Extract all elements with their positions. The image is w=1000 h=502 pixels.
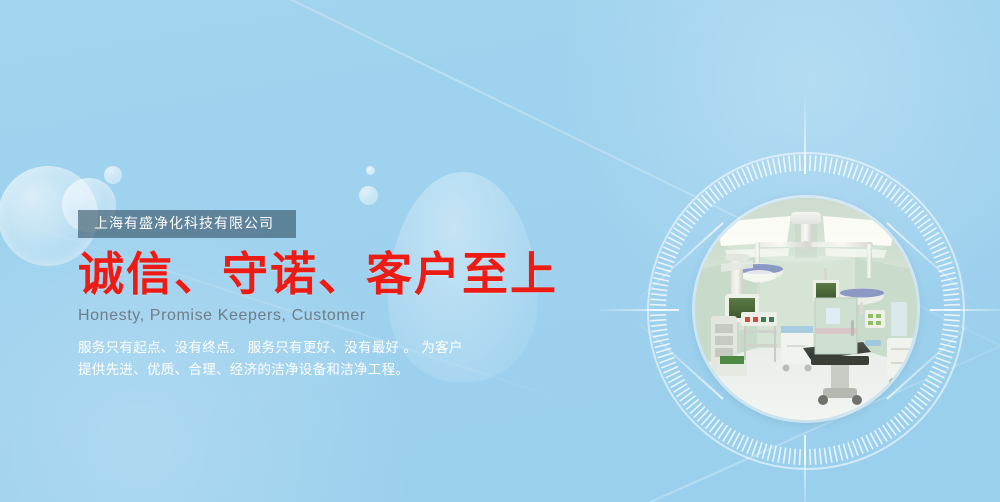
decorative-bubble-dot-1 <box>359 186 378 205</box>
banner-description-line-1: 服务只有起点、没有终点。 服务只有更好、没有最好 。 为客户 <box>78 337 598 359</box>
banner-copy-block: 上海有盛净化科技有限公司 诚信、守诺、客户至上 Honesty, Promise… <box>78 210 598 381</box>
banner-subtitle-english: Honesty, Promise Keepers, Customer <box>78 306 598 327</box>
decorative-bubble-small <box>104 166 122 184</box>
banner-description-line-2: 提供先进、优质、合理、经济的洁净设备和洁净工程。 <box>78 359 598 381</box>
banner-headline: 诚信、守诺、客户至上 <box>78 250 598 300</box>
banner-description: 服务只有起点、没有终点。 服务只有更好、没有最好 。 为客户 提供先进、优质、合… <box>78 337 598 382</box>
company-name-badge: 上海有盛净化科技有限公司 <box>78 210 296 238</box>
operating-room-photo: 洁净手术室 <box>695 198 917 420</box>
hero-banner: 上海有盛净化科技有限公司 诚信、守诺、客户至上 Honesty, Promise… <box>0 0 1000 502</box>
circular-photo-composition: 洁净手术室 <box>625 130 985 490</box>
decorative-bubble-dot-2 <box>366 166 375 175</box>
